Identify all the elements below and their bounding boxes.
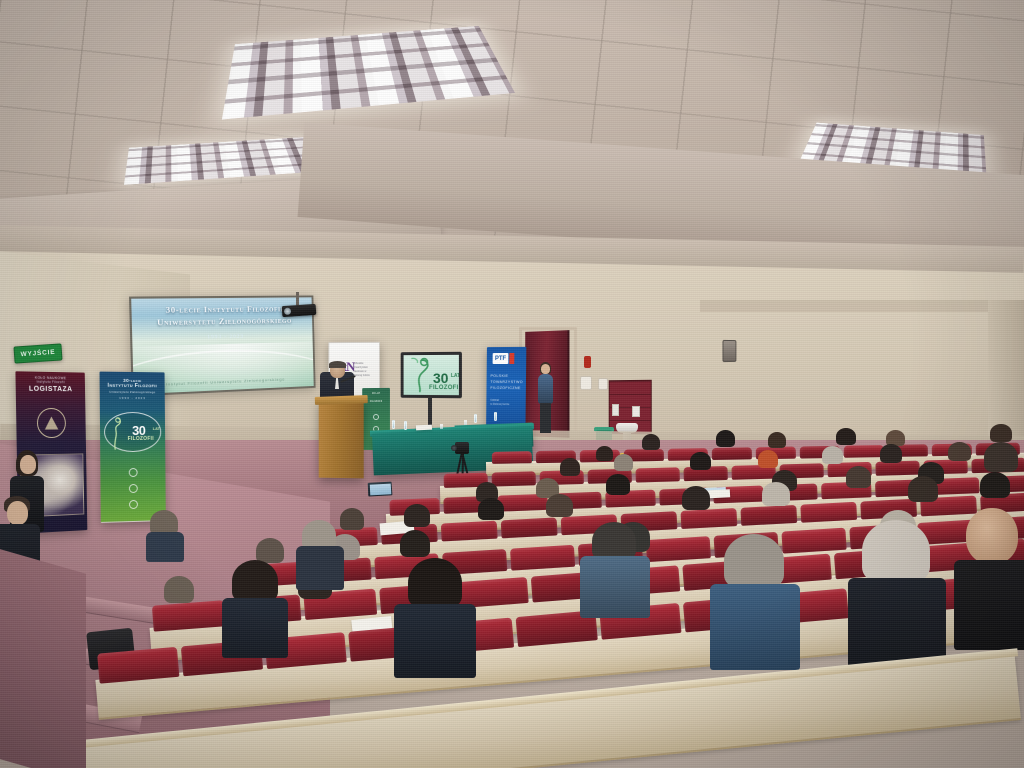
person-hair [614, 454, 633, 471]
person-hair [908, 476, 938, 502]
screen-years: 1993 - 2023 [132, 332, 312, 342]
seat [646, 536, 711, 562]
banner-logistaza-text: KOŁO NAUKOWE Instytutu Filozofii LOGISTA… [15, 375, 85, 393]
camera-lens-icon [451, 445, 457, 451]
logistaza-name: LOGISTAZA [16, 386, 85, 394]
seat [492, 471, 536, 486]
water-bottle-3 [474, 414, 477, 423]
ceiling-projector [282, 304, 317, 317]
person-head [20, 455, 36, 474]
video-camera-on-tripod [455, 442, 469, 454]
person-hair [596, 446, 613, 461]
seat [492, 451, 532, 464]
seat [844, 445, 884, 458]
person-hair [164, 576, 194, 603]
fire-extinguisher-sign-icon [584, 356, 591, 368]
seat [740, 505, 797, 526]
paper-towel-dispenser-icon [632, 406, 640, 417]
seat [800, 502, 857, 523]
rollup-icon-2 [129, 484, 138, 493]
rollup-icon-1 [129, 468, 138, 477]
lectern-icon-1 [373, 414, 379, 420]
person-torso [222, 598, 288, 658]
person-hair [862, 520, 930, 582]
person-hair [980, 472, 1010, 498]
person-hair [846, 466, 871, 488]
person-hair [340, 508, 364, 530]
seat [441, 521, 498, 542]
ptf-title-block: POLSKIE TOWARZYSTWO FILOZOFICZNE [490, 373, 523, 392]
wooden-podium [319, 400, 364, 479]
laptop-on-desk [368, 482, 393, 497]
rollup-logo-word: FILOZOFII [128, 436, 154, 442]
rollup-icon-3 [129, 500, 138, 509]
person-hair [642, 434, 660, 450]
person-hair [606, 474, 630, 495]
wall-strip-right [700, 300, 1024, 312]
wall-speaker-icon [722, 340, 736, 362]
water-bottle-4 [494, 412, 497, 421]
left-aisle [0, 546, 86, 768]
ptf-accent-bar [509, 353, 514, 364]
person-head [966, 508, 1018, 564]
seat [501, 517, 558, 538]
ptf-sub-block: Oddział w Zielonej Górze [490, 399, 523, 408]
person-hair [822, 446, 843, 464]
person-head [7, 501, 28, 525]
ptf-sub2: w Zielonej Górze [490, 403, 523, 408]
person-hair [990, 424, 1012, 442]
ltn-text: Lubuskie Towarzystwo Naukowe w Zielonej … [353, 362, 376, 378]
projector-lens-icon [284, 308, 291, 315]
ptf-logo: PTF [493, 353, 509, 364]
seat [510, 545, 575, 571]
seat [636, 467, 680, 482]
monitor-logo-lat: LAT [451, 373, 460, 379]
person-hair [762, 482, 790, 506]
lectern-line1: 30 LAT [364, 392, 388, 396]
presentation-monitor: 30 LAT FILOZOFII [401, 352, 462, 398]
triangle-lambda-emblem-icon [37, 408, 66, 438]
monitor-logo-word: FILOZOFII [429, 385, 461, 391]
person-hair [546, 494, 573, 517]
rollup-line3: Uniwersytetu Zielonogórskiego [100, 390, 165, 394]
rollup-line2: Instytutu Filozofii [100, 383, 165, 390]
water-bottle-1 [392, 420, 395, 429]
person-torso [146, 532, 184, 562]
person-torso [710, 584, 800, 670]
person-torso [954, 560, 1024, 650]
drinking-glass-1 [440, 424, 443, 429]
drinking-glass-2 [464, 420, 467, 425]
seat [152, 600, 226, 631]
document-on-table [416, 425, 432, 431]
person-torso [394, 604, 476, 678]
person-hair [690, 452, 711, 470]
seat [680, 508, 737, 529]
person-hair [836, 428, 856, 445]
monitor-logo-30: 30 [433, 371, 448, 385]
person-hair [560, 458, 580, 476]
person-hair [948, 442, 971, 461]
person-hair [984, 442, 1018, 472]
exit-sign: WYJŚCIE [13, 343, 62, 363]
rollup-text-block: 30-lecie Instytutu Filozofii Uniwersytet… [100, 378, 165, 401]
wall-mounted-box [580, 376, 592, 390]
person-torso [580, 556, 650, 618]
wall-mounted-box-2 [598, 378, 608, 390]
person-head [541, 364, 550, 374]
logistaza-line2: Instytutu Filozofii [16, 379, 85, 384]
auditorium-photo: WYJŚCIE 30-lecie Instytutu Filozofii Uni… [0, 0, 1024, 768]
person-hair [716, 430, 735, 447]
person-hair [256, 538, 284, 563]
person-hair [724, 534, 784, 588]
thinker-figure-icon [110, 416, 124, 450]
rollup-years: 1993 - 2023 [100, 396, 165, 400]
person-hair [880, 444, 902, 463]
person-torso [538, 374, 553, 404]
person-hair [232, 560, 278, 602]
person-hair [768, 432, 786, 448]
soap-dispenser-icon [612, 404, 619, 416]
laptop-screen [369, 483, 391, 495]
person-hair [400, 530, 430, 557]
person-hair [408, 558, 462, 608]
water-bottle-2 [404, 421, 407, 430]
exit-sign-label: WYJŚCIE [20, 349, 55, 358]
banner-anniversary-rollup: 30-lecie Instytutu Filozofii Uniwersytet… [100, 372, 166, 523]
seat [781, 528, 846, 554]
person-hair [758, 450, 778, 468]
person-hair [478, 498, 504, 520]
person-hair [682, 486, 710, 510]
ptf-line3: FILOZOFICZNE [490, 385, 523, 391]
speaker-hair [329, 361, 346, 368]
seat [712, 447, 752, 460]
rollup-logo-lat: LAT [153, 426, 160, 431]
person-legs [540, 403, 551, 433]
person-hair [592, 522, 636, 560]
person-hair [404, 504, 430, 527]
person-torso [296, 546, 344, 590]
